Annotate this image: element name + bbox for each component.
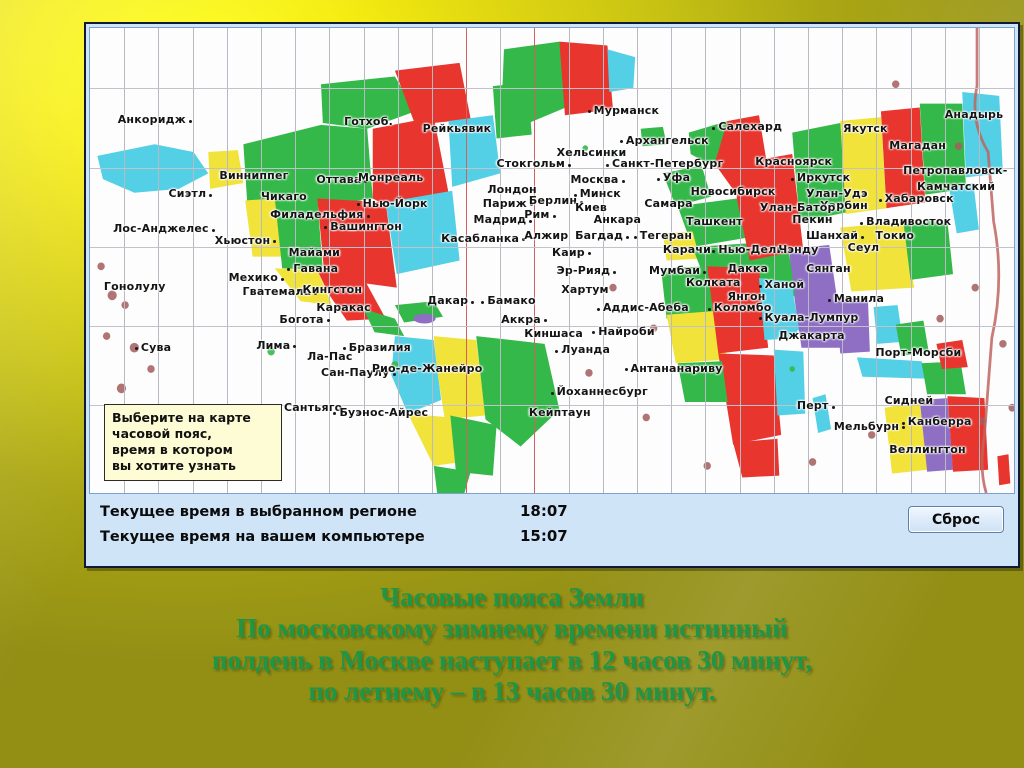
map-city-name: Магадан [889,139,946,152]
map-city-label[interactable]: Куала-Лумпур [765,312,859,323]
selected-region-time-label: Текущее время в выбранном регионе [100,504,520,520]
map-city-label[interactable]: Майами [289,247,340,258]
map-city-label[interactable]: Стокгольм [497,158,566,169]
map-city-name: Касабланка [441,232,519,245]
map-city-dot [568,164,571,167]
slide-caption: Часовые пояса Земли По московскому зимне… [0,582,1024,707]
map-city-name: Дакар [427,294,468,307]
map-city-dot [703,271,706,274]
map-city-name: Лос-Анджелес [113,222,209,235]
map-city-label[interactable]: Нью-Дели [718,244,784,255]
caption-title: Часовые пояса Земли [0,582,1024,613]
map-city-name: Хартум [561,283,609,296]
map-city-label[interactable]: Лос-Анджелес [113,223,209,234]
map-city-label[interactable]: Москва [570,174,618,185]
map-city-name: Киншаса [524,327,583,340]
local-computer-time-value: 15:07 [520,527,568,545]
map-city-label[interactable]: Касабланка [441,233,519,244]
map-city-name: Пекин [792,213,832,226]
map-city-name: Якутск [843,122,888,135]
map-city-label[interactable]: Салехард [718,121,782,132]
map-city-label[interactable]: Каракас [316,302,371,313]
map-city-name: Берлин [529,194,577,207]
map-city-label[interactable]: Монреаль [358,172,423,183]
map-city-label[interactable]: Ла-Пас [307,351,352,362]
map-city-dot [791,178,794,181]
map-city-name: Тегеран [640,229,692,242]
map-city-name: Буэнос-Айрес [339,406,428,419]
map-city-dot [828,299,831,302]
map-city-label[interactable]: Анкара [594,214,642,225]
map-city-dot [281,278,284,281]
map-city-name: Аддис-Абеба [603,301,689,314]
map-city-dot [297,289,300,292]
map-city-dot [622,180,625,183]
map-city-label[interactable]: Алжир [524,230,568,241]
map-city-name: Новосибирск [691,185,776,198]
map-city-label[interactable]: Бразилия [349,342,411,353]
map-city-label[interactable]: Гавана [293,263,338,274]
map-city-name: Монреаль [358,171,423,184]
map-city-name: Бамако [487,294,535,307]
map-city-label[interactable]: Берлин [529,195,577,206]
map-city-label[interactable]: Лима [256,340,290,351]
map-city-name: Владивосток [866,215,951,228]
map-city-name: Карачи [663,243,711,256]
map-city-label[interactable]: Богота [279,314,323,325]
map-city-name: Сеул [848,241,880,254]
map-city-name: Сянган [806,262,851,275]
map-city-label[interactable]: Новосибирск [691,186,776,197]
map-city-dot [860,222,863,225]
map-city-name: Красноярск [755,155,832,168]
map-city-label[interactable]: Шанхай [806,230,858,241]
map-city-label[interactable]: Готхоб. [344,116,393,127]
map-city-name: Москва [570,173,618,186]
map-city-label[interactable]: Сеул [848,242,880,253]
map-city-label[interactable]: Улан-Батор [760,202,836,213]
map-city-label[interactable]: Нью-Йорк [363,198,428,209]
map-city-name: Уфа [663,171,690,184]
map-city-label[interactable]: Хельсинки [557,147,627,158]
map-city-name: Салехард [718,120,782,133]
map-city-name: Антананариву [631,362,723,375]
map-city-label[interactable]: Дакка [728,263,769,274]
map-city-label[interactable]: Минск [580,188,621,199]
map-city-label[interactable]: Каир [552,247,585,258]
map-city-name: Лима [256,339,290,352]
map-city-name: Хьюстон [215,234,271,247]
map-city-name: Колката [686,276,741,289]
world-map-frame[interactable]: АнкориджГотхоб.РейкьявикМурманскСалехард… [89,27,1015,494]
map-city-dot [708,308,711,311]
map-city-dot [634,236,637,239]
map-city-label[interactable]: Магадан [889,140,946,151]
local-computer-time-label: Текущее время на вашем компьютере [100,529,520,545]
map-city-label[interactable]: Мельбурн [834,421,899,432]
map-city-name: Ташкент [686,215,743,228]
map-city-name: Луанда [561,343,610,356]
map-city-label[interactable]: Сиэтл [169,188,207,199]
status-row-selected-region: Текущее время в выбранном регионе 18:07 [86,502,1018,527]
map-city-name: Сидней [885,394,934,407]
map-city-dot [879,199,882,202]
map-city-dot [902,422,905,425]
map-city-label[interactable]: Найроби [598,326,655,337]
world-map-canvas[interactable]: АнкориджГотхоб.РейкьявикМурманскСалехард… [90,28,1014,493]
map-city-name: Мадрид [473,213,526,226]
map-city-name: Париж [483,197,527,210]
map-city-name: Майами [289,246,340,259]
map-city-name: Готхоб. [344,115,393,128]
map-city-dot [212,229,215,232]
map-city-name: Иркутск [797,171,850,184]
reset-button[interactable]: Сброс [908,506,1004,533]
caption-line-3: полдень в Москве наступает в 12 часов 30… [0,645,1024,676]
map-city-name: Кингстон [303,283,363,296]
map-city-name: Веллингтон [889,443,966,456]
map-city-label[interactable]: Ханой [765,279,805,290]
map-city-name: Сиэтл [169,187,207,200]
map-city-name: Каракас [316,301,371,314]
map-city-label[interactable]: Мадрид [473,214,526,225]
map-city-name: Коломбо [714,301,772,314]
map-city-label[interactable]: Гонолулу [104,281,166,292]
map-city-dot [357,203,360,206]
map-city-name: Найроби [598,325,655,338]
map-city-label[interactable]: Пекин [792,214,832,225]
map-city-label[interactable]: Эр-Рияд [557,265,611,276]
map-city-name: Гватемала [242,285,311,298]
map-city-name: Минск [580,187,621,200]
map-city-name: Рим [524,208,549,221]
map-city-dot [613,271,616,274]
map-city-label[interactable]: Кейптаун [529,407,591,418]
hint-line: время в котором [112,442,274,458]
map-city-label[interactable]: Колката [686,277,741,288]
map-city-name: Петропавловск- [903,164,1007,177]
map-city-name: Йоханнесбург [557,385,648,398]
map-city-label[interactable]: Санкт-Петербург [612,158,723,169]
map-city-name: Куала-Лумпур [765,311,859,324]
map-city-dot [551,392,554,395]
map-city-name: Ла-Пас [307,350,352,363]
map-city-dot [657,178,660,181]
map-city-name: Рио-де-Жанейро [372,362,483,375]
map-city-name: Порт-Морсби [875,346,961,359]
map-city-dot [606,164,609,167]
map-city-name: Манила [834,292,884,305]
hint-line: часовой пояс, [112,426,274,442]
map-city-name: Перт [797,399,829,412]
map-city-label[interactable]: Владивосток [866,216,951,227]
map-city-label[interactable]: Чэнду [778,244,818,255]
map-city-label[interactable]: Якутск [843,123,888,134]
caption-line-4: по летнему – в 13 часов 30 минут. [0,676,1024,707]
map-city-label[interactable]: Мумбаи [649,265,700,276]
map-city-name: Анадырь [945,108,1004,121]
map-city-name: Нью-Йорк [363,197,428,210]
map-city-name: Гавана [293,262,338,275]
map-city-name: Кейптаун [529,406,591,419]
map-city-label[interactable]: Винниппег [219,170,288,181]
map-city-label[interactable]: Порт-Морсби [875,347,961,358]
status-bar: Текущее время в выбранном регионе 18:07 … [86,494,1018,566]
map-city-name: Хабаровск [885,192,954,205]
map-city-name: Каир [552,246,585,259]
map-city-label[interactable]: Бамако [487,295,535,306]
map-city-name: Эр-Рияд [557,264,611,277]
map-city-label[interactable]: Веллингтон [889,444,966,455]
map-city-label[interactable]: Париж [483,198,527,209]
caption-line-2: По московскому зимнему времени истинный [0,613,1024,644]
map-city-label[interactable]: Луанда [561,344,610,355]
map-city-name: Багдад [575,229,623,242]
map-city-name: Канберра [908,415,972,428]
map-city-dot [597,308,600,311]
map-city-dot [832,406,835,409]
map-city-label[interactable]: Красноярск [755,156,832,167]
map-city-label[interactable]: Кингстон [303,284,363,295]
map-city-name: Токио [875,229,914,242]
map-city-dot [588,110,591,113]
map-city-name: Стокгольм [497,157,566,170]
map-city-label[interactable]: Анадырь [945,109,1004,120]
map-city-name: Рейкьявик [423,122,492,135]
map-city-label[interactable]: Петропавловск- [903,165,1007,176]
map-city-label[interactable]: Рим [524,209,549,220]
map-city-label[interactable]: Буэнос-Айрес [339,407,428,418]
map-city-name: Сува [141,341,171,354]
map-city-name: Ханой [765,278,805,291]
map-city-label[interactable]: Вашингтон [330,221,402,232]
map-city-label[interactable]: Канберра [908,416,972,427]
map-city-name: Анкоридж [118,113,186,126]
map-city-label[interactable]: Аддис-Абеба [603,302,689,313]
map-city-label[interactable]: Улан-Удэ [806,188,868,199]
map-city-name: Алжир [524,229,568,242]
map-city-name: Винниппег [219,169,288,182]
map-city-name: Чэнду [778,243,818,256]
map-city-label[interactable]: Карачи [663,244,711,255]
map-city-name: Джакарта [778,329,844,342]
map-city-label[interactable]: Чикаго [261,191,307,202]
hint-line: Выберите на карте [112,410,274,426]
map-city-label[interactable]: Хабаровск [885,193,954,204]
map-city-dot [189,120,192,123]
map-city-dot [626,236,629,239]
map-city-label[interactable]: Рио-де-Жанейро [372,363,483,374]
map-city-dot [553,215,556,218]
map-city-label[interactable]: Мехико [229,272,278,283]
map-city-name: Мехико [229,271,278,284]
map-city-label[interactable]: Ташкент [686,216,743,227]
map-city-label[interactable]: Багдад [575,230,623,241]
map-city-name: Архангельск [626,134,709,147]
map-city-label[interactable]: Манила [834,293,884,304]
map-city-label[interactable]: Перт [797,400,829,411]
map-city-dot [759,317,762,320]
map-city-name: Чикаго [261,190,307,203]
map-city-label[interactable]: Оттава [316,174,361,185]
map-city-label[interactable]: Тегеран [640,230,692,241]
map-city-dot [759,285,762,288]
map-city-label[interactable]: Хьюстон [215,235,271,246]
map-city-label[interactable]: Самара [644,198,692,209]
map-city-name: Аккра [501,313,541,326]
map-hint-box: Выберите на карте часовой пояс, время в … [104,404,282,481]
map-city-label[interactable]: Сува [141,342,171,353]
selected-region-time-value: 18:07 [520,502,568,520]
map-city-name: Анкара [594,213,642,226]
map-city-label[interactable]: Мурманск [594,105,660,116]
map-city-label[interactable]: Архангельск [626,135,709,146]
map-city-name: Мурманск [594,104,660,117]
map-city-label[interactable]: Хартум [561,284,609,295]
map-city-name: Нью-Дели [718,243,784,256]
map-city-label[interactable]: Филадельфия [270,209,363,220]
map-city-label[interactable]: Иркутск [797,172,850,183]
map-city-label[interactable]: Аккра [501,314,541,325]
map-city-label[interactable]: Уфа [663,172,690,183]
map-city-name: Гонолулу [104,280,166,293]
map-city-dot [555,350,558,353]
map-city-dot [861,236,864,239]
map-city-name: Мельбурн [834,420,899,433]
map-city-dot [712,127,715,130]
map-city-name: Бразилия [349,341,411,354]
map-city-dot [588,252,591,255]
map-city-name: Оттава [316,173,361,186]
map-city-label[interactable]: Йоханнесбург [557,386,648,397]
map-city-label[interactable]: Коломбо [714,302,772,313]
map-city-name: Вашингтон [330,220,402,233]
map-city-name: Самара [644,197,692,210]
status-row-local-computer: Текущее время на вашем компьютере 15:07 [86,527,1018,552]
map-city-label[interactable]: Джакарта [778,330,844,341]
map-city-label[interactable]: Гватемала [242,286,311,297]
map-city-label[interactable]: Киншаса [524,328,583,339]
map-city-label[interactable]: Сянган [806,263,851,274]
map-city-name: Санкт-Петербург [612,157,723,170]
map-city-label[interactable]: Камчатский [917,181,995,192]
map-city-label[interactable]: Сидней [885,395,934,406]
map-city-label[interactable]: Анкоридж [118,114,186,125]
map-city-label[interactable]: Киев [575,202,607,213]
timezone-app-window: АнкориджГотхоб.РейкьявикМурманскСалехард… [84,22,1020,568]
map-city-dot [367,215,370,218]
map-city-label[interactable]: Дакар [427,295,468,306]
map-city-label[interactable]: Рейкьявик [423,123,492,134]
map-city-name: Богота [279,313,323,326]
map-city-dot [625,368,628,371]
map-city-label[interactable]: Антананариву [631,363,723,374]
map-city-name: Дакка [728,262,769,275]
hint-line: вы хотите узнать [112,458,274,474]
map-city-label[interactable]: Токио [875,230,914,241]
